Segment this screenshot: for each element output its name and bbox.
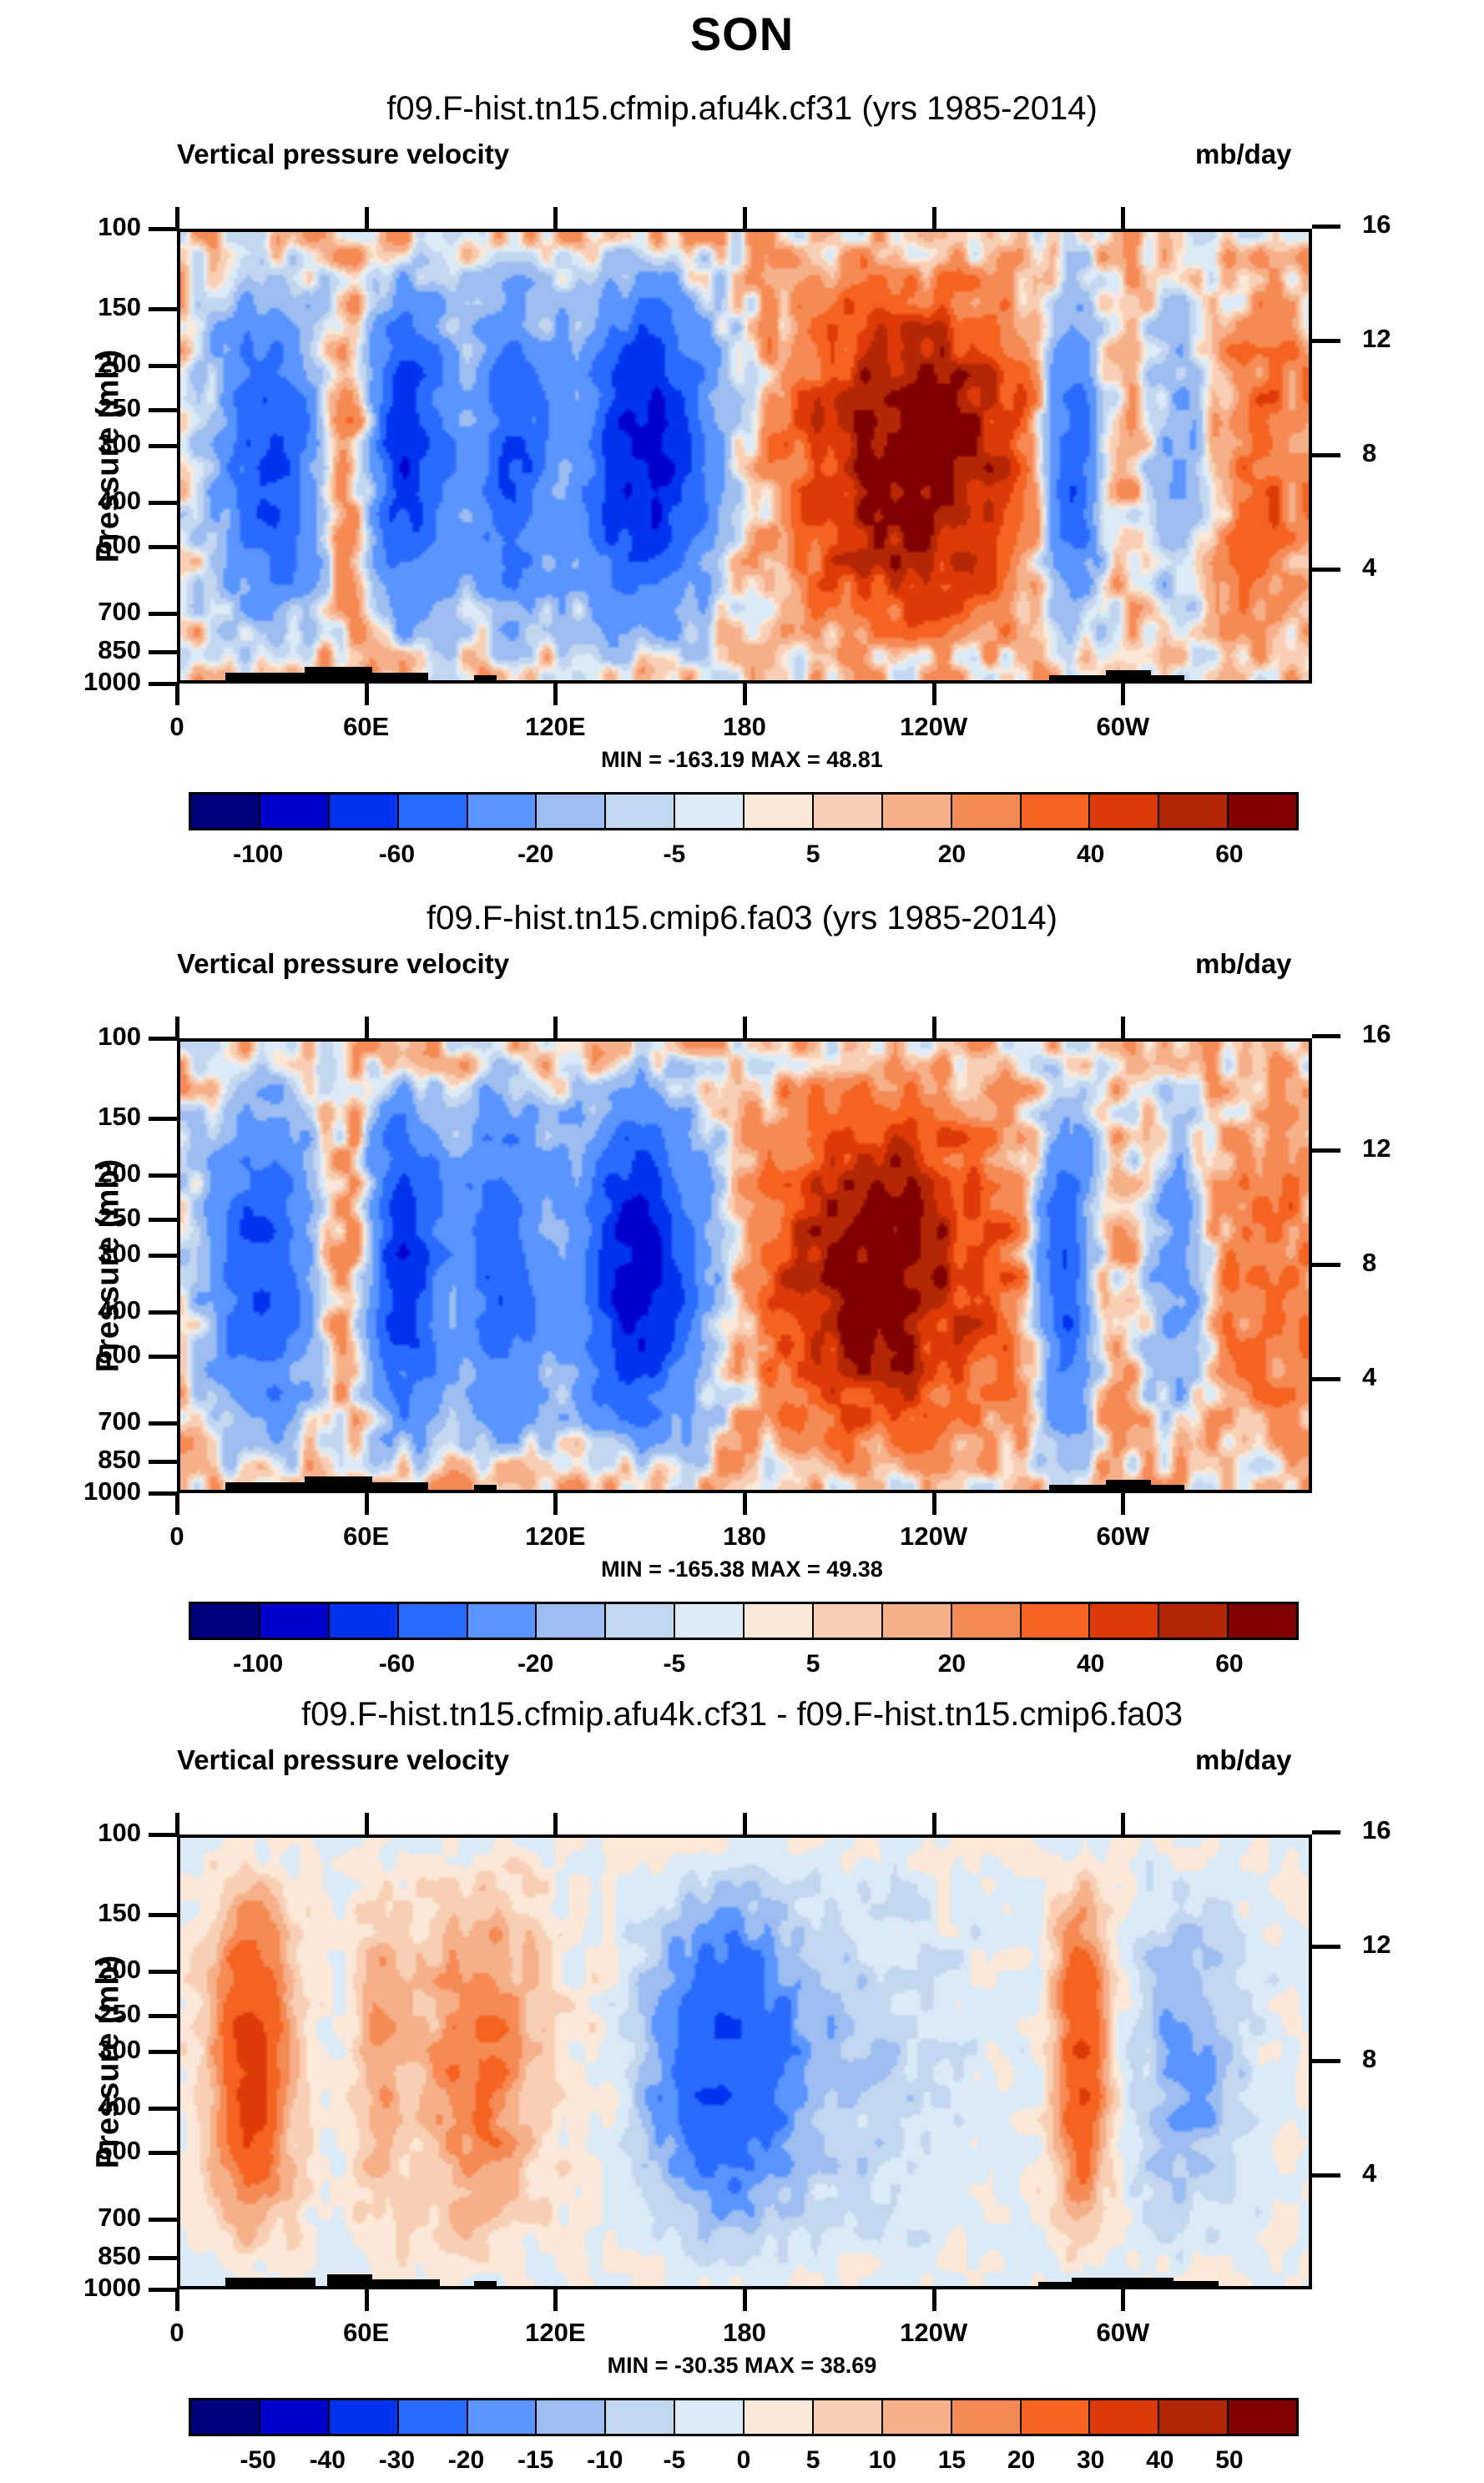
x-tick-mark-bottom bbox=[743, 684, 747, 705]
x-tick-label: 0 bbox=[110, 1522, 244, 1552]
colorbar-swatch bbox=[1229, 1604, 1296, 1638]
x-tick-mark-top bbox=[175, 1813, 179, 1834]
colorbar-tick-label: 60 bbox=[1215, 1650, 1243, 1678]
colorbar-swatch bbox=[260, 795, 330, 828]
x-tick-label: 120W bbox=[867, 712, 1001, 742]
colorbar-swatch bbox=[883, 2400, 952, 2434]
x-tick-mark-bottom bbox=[932, 2289, 936, 2311]
y-tick-label-height: 8 bbox=[1362, 1248, 1376, 1278]
colorbar-tick-label: 5 bbox=[806, 840, 820, 869]
y-tick-mark-right bbox=[1312, 2059, 1340, 2063]
x-tick-label: 0 bbox=[110, 2318, 244, 2348]
colorbar-tick-label: 40 bbox=[1146, 2446, 1174, 2475]
colorbar-tick-label: -100 bbox=[233, 840, 283, 869]
x-tick-label: 60W bbox=[1056, 712, 1189, 742]
y-tick-label-pressure: 300 bbox=[37, 429, 141, 459]
colorbar-swatch bbox=[883, 1604, 952, 1638]
x-tick-mark-bottom bbox=[553, 684, 558, 705]
y-tick-label-height: 12 bbox=[1362, 324, 1391, 354]
y-tick-mark-left bbox=[149, 1970, 177, 1974]
variable-label: Vertical pressure velocity bbox=[177, 139, 509, 170]
colorbar-swatch bbox=[1229, 2400, 1296, 2434]
colorbar-swatch bbox=[675, 1604, 745, 1638]
variable-label: Vertical pressure velocity bbox=[177, 948, 509, 980]
colorbar-tick-label: 10 bbox=[869, 2446, 896, 2475]
y-tick-label-pressure: 1000 bbox=[37, 1476, 141, 1506]
colorbar-swatch bbox=[1229, 795, 1296, 828]
contour-field bbox=[180, 232, 1309, 680]
colorbar-tick-label: -15 bbox=[517, 2446, 553, 2475]
x-tick-label: 60E bbox=[300, 1522, 433, 1552]
colorbar-swatch bbox=[1090, 2400, 1159, 2434]
topography-mask bbox=[1049, 675, 1106, 680]
y-tick-mark-left bbox=[149, 1913, 177, 1917]
x-tick-mark-bottom bbox=[175, 1493, 179, 1515]
y-tick-mark-left bbox=[149, 2050, 177, 2054]
colorbar-swatch bbox=[675, 2400, 745, 2434]
x-tick-label: 120W bbox=[867, 2318, 1001, 2348]
y-tick-label-pressure: 200 bbox=[37, 1955, 141, 1985]
colorbar-tick-label: -10 bbox=[587, 2446, 623, 2475]
colorbar-tick-label: 60 bbox=[1215, 840, 1243, 869]
x-tick-label: 120E bbox=[488, 712, 622, 742]
colorbar-swatch bbox=[1159, 1604, 1229, 1638]
colorbar-swatch bbox=[745, 795, 814, 828]
x-tick-mark-top bbox=[365, 207, 369, 229]
x-tick-mark-bottom bbox=[553, 2289, 558, 2311]
topography-mask bbox=[1106, 1480, 1151, 1490]
topography-mask bbox=[372, 673, 429, 680]
colorbar-swatch bbox=[952, 1604, 1022, 1638]
colorbar-swatch bbox=[606, 795, 675, 828]
colorbar-tick-label: -60 bbox=[379, 840, 415, 869]
y-tick-label-height: 4 bbox=[1362, 2158, 1376, 2188]
y-tick-label-height: 8 bbox=[1362, 438, 1376, 468]
colorbar-swatch bbox=[1159, 2400, 1229, 2434]
topography-mask bbox=[225, 673, 305, 680]
colorbar-swatch bbox=[399, 1604, 468, 1638]
topography-mask bbox=[1174, 2281, 1219, 2286]
x-tick-mark-top bbox=[1121, 1813, 1125, 1834]
y-tick-mark-right bbox=[1312, 568, 1340, 572]
colorbar-tick-label: 20 bbox=[938, 1650, 966, 1678]
topography-mask bbox=[1072, 2278, 1174, 2286]
colorbar-swatch bbox=[468, 795, 538, 828]
x-tick-mark-top bbox=[365, 1813, 369, 1834]
y-tick-label-pressure: 100 bbox=[37, 1022, 141, 1052]
y-tick-label-pressure: 200 bbox=[37, 349, 141, 379]
x-tick-mark-top bbox=[175, 207, 179, 229]
x-tick-label: 60E bbox=[300, 712, 433, 742]
x-tick-label: 120E bbox=[488, 2318, 622, 2348]
y-tick-label-pressure: 700 bbox=[37, 597, 141, 627]
topography-mask bbox=[305, 1476, 372, 1490]
x-tick-label: 0 bbox=[110, 712, 244, 742]
x-tick-mark-bottom bbox=[1121, 2289, 1125, 2311]
y-tick-mark-left bbox=[149, 1254, 177, 1258]
y-tick-mark-right bbox=[1312, 2173, 1340, 2178]
x-tick-mark-top bbox=[553, 207, 558, 229]
topography-mask bbox=[305, 667, 372, 680]
x-tick-mark-bottom bbox=[175, 2289, 179, 2311]
y-tick-label-pressure: 700 bbox=[37, 2203, 141, 2233]
colorbar-swatch bbox=[1022, 795, 1091, 828]
colorbar-swatch bbox=[399, 2400, 468, 2434]
topography-mask bbox=[225, 2278, 315, 2286]
topography-mask bbox=[1106, 670, 1151, 680]
y-tick-label-pressure: 100 bbox=[37, 212, 141, 242]
colorbar-tick-label: -20 bbox=[517, 840, 553, 869]
x-tick-label: 120W bbox=[867, 1522, 1001, 1552]
y-tick-label-height: 16 bbox=[1362, 1815, 1391, 1845]
colorbar-swatch bbox=[883, 795, 952, 828]
y-tick-label-height: 4 bbox=[1362, 553, 1376, 583]
y-tick-label-pressure: 700 bbox=[37, 1406, 141, 1436]
x-tick-mark-bottom bbox=[175, 684, 179, 705]
colorbar-swatch bbox=[952, 795, 1022, 828]
contour-plot-area bbox=[177, 229, 1312, 684]
topography-mask bbox=[474, 2281, 497, 2286]
units-label: mb/day bbox=[1195, 948, 1292, 980]
x-tick-label: 180 bbox=[678, 1522, 811, 1552]
y-tick-mark-right bbox=[1312, 1830, 1340, 1834]
y-tick-label-pressure: 250 bbox=[37, 1203, 141, 1233]
colorbar-tick-label: 40 bbox=[1077, 840, 1104, 869]
y-tick-label-height: 16 bbox=[1362, 209, 1391, 240]
colorbar-swatch bbox=[468, 2400, 538, 2434]
y-tick-mark-left bbox=[149, 227, 177, 231]
colorbar-swatch bbox=[191, 2400, 260, 2434]
colorbar-labels: -50-40-30-20-15-10-505101520304050 bbox=[189, 2446, 1299, 2483]
colorbar-labels: -100-60-20-55204060 bbox=[189, 1650, 1299, 1687]
x-tick-mark-bottom bbox=[365, 1493, 369, 1515]
y-tick-label-pressure: 1000 bbox=[37, 667, 141, 697]
y-tick-mark-right bbox=[1312, 339, 1340, 343]
x-tick-mark-top bbox=[365, 1017, 369, 1038]
y-tick-mark-right bbox=[1312, 1148, 1340, 1153]
x-tick-mark-top bbox=[553, 1017, 558, 1038]
colorbar-swatch bbox=[1159, 795, 1229, 828]
y-tick-mark-right bbox=[1312, 225, 1340, 229]
y-tick-mark-left bbox=[149, 1218, 177, 1222]
y-tick-label-pressure: 150 bbox=[37, 1898, 141, 1928]
x-tick-mark-bottom bbox=[1121, 1493, 1125, 1515]
y-tick-mark-right bbox=[1312, 1377, 1340, 1381]
x-tick-label: 180 bbox=[678, 2318, 811, 2348]
colorbar-swatch bbox=[330, 795, 399, 828]
x-tick-mark-top bbox=[1121, 1017, 1125, 1038]
colorbar-tick-label: -30 bbox=[379, 2446, 415, 2475]
panel-title: f09.F-hist.tn15.cfmip.afu4k.cf31 (yrs 19… bbox=[0, 90, 1484, 128]
y-tick-mark-left bbox=[149, 408, 177, 412]
y-tick-mark-left bbox=[149, 650, 177, 654]
colorbar-tick-label: -50 bbox=[240, 2446, 275, 2475]
panel-title: f09.F-hist.tn15.cmip6.fa03 (yrs 1985-201… bbox=[0, 900, 1484, 937]
x-tick-mark-bottom bbox=[365, 2289, 369, 2311]
topography-mask bbox=[327, 2274, 372, 2286]
colorbar-tick-label: -60 bbox=[379, 1650, 415, 1678]
x-tick-mark-top bbox=[743, 1813, 747, 1834]
x-tick-label: 60W bbox=[1056, 1522, 1189, 1552]
colorbar-swatch bbox=[814, 795, 883, 828]
contour-plot-area bbox=[177, 1834, 1312, 2289]
colorbar-swatch bbox=[606, 2400, 675, 2434]
contour-field bbox=[180, 1838, 1309, 2286]
x-tick-mark-top bbox=[932, 1017, 936, 1038]
colorbar-tick-label: 5 bbox=[806, 2446, 820, 2475]
x-tick-mark-top bbox=[553, 1813, 558, 1834]
colorbar-swatch bbox=[330, 1604, 399, 1638]
y-tick-mark-right bbox=[1312, 453, 1340, 457]
colorbar-swatch bbox=[330, 2400, 399, 2434]
colorbar-tick-label: 0 bbox=[737, 2446, 751, 2475]
colorbar-swatch bbox=[537, 1604, 606, 1638]
y-tick-label-pressure: 1000 bbox=[37, 2273, 141, 2303]
y-tick-mark-left bbox=[149, 2014, 177, 2018]
x-tick-mark-bottom bbox=[932, 1493, 936, 1515]
x-tick-mark-bottom bbox=[553, 1493, 558, 1515]
y-tick-mark-left bbox=[149, 612, 177, 616]
x-tick-mark-bottom bbox=[932, 684, 936, 705]
y-tick-label-pressure: 850 bbox=[37, 635, 141, 665]
units-label: mb/day bbox=[1195, 139, 1292, 170]
topography-mask bbox=[474, 675, 497, 680]
y-tick-mark-left bbox=[149, 545, 177, 549]
y-tick-label-pressure: 300 bbox=[37, 1239, 141, 1269]
colorbar-tick-label: -5 bbox=[664, 1650, 686, 1678]
colorbar-swatch bbox=[191, 1604, 260, 1638]
y-tick-mark-left bbox=[149, 307, 177, 311]
colorbar-swatch bbox=[1090, 1604, 1159, 1638]
y-tick-label-pressure: 400 bbox=[37, 2092, 141, 2122]
colorbar-swatch bbox=[399, 795, 468, 828]
colorbar-tick-label: 50 bbox=[1215, 2446, 1243, 2475]
colorbar-swatch bbox=[1022, 1604, 1091, 1638]
colorbar-swatch bbox=[814, 2400, 883, 2434]
colorbar-swatch bbox=[468, 1604, 538, 1638]
colorbar bbox=[189, 1602, 1299, 1640]
contour-plot-area bbox=[177, 1038, 1312, 1493]
topography-mask bbox=[1049, 1485, 1106, 1490]
y-tick-label-pressure: 500 bbox=[37, 2136, 141, 2166]
units-label: mb/day bbox=[1195, 1744, 1292, 1776]
topography-mask bbox=[372, 2279, 440, 2286]
y-tick-mark-left bbox=[149, 682, 177, 686]
y-tick-label-height: 12 bbox=[1362, 1133, 1391, 1163]
colorbar-tick-label: -100 bbox=[233, 1650, 283, 1678]
colorbar-swatch bbox=[952, 2400, 1022, 2434]
colorbar-tick-label: 20 bbox=[1007, 2446, 1035, 2475]
y-tick-mark-left bbox=[149, 1355, 177, 1359]
topography-mask bbox=[474, 1485, 497, 1490]
x-tick-mark-top bbox=[1121, 207, 1125, 229]
x-tick-mark-top bbox=[932, 207, 936, 229]
min-max-annotation: MIN = -163.19 MAX = 48.81 bbox=[0, 747, 1484, 773]
colorbar-swatch bbox=[814, 1604, 883, 1638]
y-tick-mark-left bbox=[149, 501, 177, 505]
x-tick-mark-bottom bbox=[365, 684, 369, 705]
y-tick-mark-left bbox=[149, 444, 177, 448]
colorbar-tick-label: -20 bbox=[448, 2446, 484, 2475]
x-tick-mark-bottom bbox=[743, 1493, 747, 1515]
y-tick-label-height: 16 bbox=[1362, 1019, 1391, 1049]
y-tick-mark-left bbox=[149, 1117, 177, 1121]
y-tick-label-pressure: 200 bbox=[37, 1158, 141, 1189]
y-tick-label-pressure: 500 bbox=[37, 530, 141, 560]
y-tick-mark-right bbox=[1312, 1945, 1340, 1949]
colorbar-tick-label: 15 bbox=[938, 2446, 966, 2475]
colorbar-tick-label: -20 bbox=[517, 1650, 553, 1678]
y-tick-mark-left bbox=[149, 364, 177, 368]
topography-mask bbox=[1151, 1485, 1185, 1490]
y-tick-mark-left bbox=[149, 2218, 177, 2222]
y-tick-label-pressure: 150 bbox=[37, 1102, 141, 1132]
y-tick-mark-left bbox=[149, 1310, 177, 1315]
colorbar-swatch bbox=[1022, 2400, 1091, 2434]
x-tick-label: 180 bbox=[678, 712, 811, 742]
y-tick-label-pressure: 400 bbox=[37, 486, 141, 516]
x-tick-mark-top bbox=[932, 1813, 936, 1834]
y-tick-mark-left bbox=[149, 2151, 177, 2155]
topography-mask bbox=[225, 1482, 305, 1490]
x-tick-mark-top bbox=[743, 1017, 747, 1038]
colorbar-swatch bbox=[191, 795, 260, 828]
y-tick-mark-left bbox=[149, 2256, 177, 2260]
y-tick-mark-left bbox=[149, 1491, 177, 1496]
y-tick-label-pressure: 850 bbox=[37, 1445, 141, 1475]
colorbar-labels: -100-60-20-55204060 bbox=[189, 840, 1299, 877]
x-tick-label: 60E bbox=[300, 2318, 433, 2348]
y-tick-label-pressure: 250 bbox=[37, 393, 141, 423]
y-tick-label-height: 4 bbox=[1362, 1362, 1376, 1392]
y-tick-label-pressure: 400 bbox=[37, 1295, 141, 1325]
y-tick-label-pressure: 150 bbox=[37, 292, 141, 322]
colorbar-tick-label: 30 bbox=[1077, 2446, 1104, 2475]
colorbar-swatch bbox=[260, 2400, 330, 2434]
colorbar-swatch bbox=[260, 1604, 330, 1638]
min-max-annotation: MIN = -165.38 MAX = 49.38 bbox=[0, 1557, 1484, 1582]
y-tick-label-pressure: 100 bbox=[37, 1818, 141, 1848]
x-tick-mark-top bbox=[175, 1017, 179, 1038]
colorbar bbox=[189, 2398, 1299, 2436]
colorbar-tick-label: 5 bbox=[806, 1650, 820, 1678]
colorbar-swatch bbox=[675, 795, 745, 828]
colorbar-tick-label: -5 bbox=[664, 2446, 686, 2475]
y-tick-label-height: 12 bbox=[1362, 1930, 1391, 1960]
colorbar-tick-label: 20 bbox=[938, 840, 966, 869]
colorbar-tick-label: -40 bbox=[310, 2446, 346, 2475]
y-tick-label-pressure: 850 bbox=[37, 2241, 141, 2271]
y-tick-mark-left bbox=[149, 1460, 177, 1464]
x-tick-mark-top bbox=[743, 207, 747, 229]
colorbar-swatch bbox=[745, 1604, 814, 1638]
y-tick-mark-left bbox=[149, 2107, 177, 2111]
variable-label: Vertical pressure velocity bbox=[177, 1744, 509, 1776]
topography-mask bbox=[1151, 675, 1185, 680]
y-tick-mark-right bbox=[1312, 1034, 1340, 1038]
panel-title: f09.F-hist.tn15.cfmip.afu4k.cf31 - f09.F… bbox=[0, 1696, 1484, 1734]
x-tick-mark-bottom bbox=[1121, 684, 1125, 705]
colorbar bbox=[189, 792, 1299, 830]
topography-mask bbox=[372, 1482, 429, 1490]
y-tick-mark-left bbox=[149, 1833, 177, 1837]
y-tick-mark-left bbox=[149, 1173, 177, 1178]
y-tick-mark-left bbox=[149, 1037, 177, 1041]
y-tick-label-height: 8 bbox=[1362, 2044, 1376, 2074]
colorbar-swatch bbox=[537, 2400, 606, 2434]
y-tick-label-pressure: 250 bbox=[37, 1999, 141, 2029]
y-tick-mark-left bbox=[149, 2288, 177, 2292]
colorbar-swatch bbox=[537, 795, 606, 828]
page-title: SON bbox=[0, 7, 1484, 61]
y-tick-label-pressure: 500 bbox=[37, 1340, 141, 1370]
min-max-annotation: MIN = -30.35 MAX = 38.69 bbox=[0, 2353, 1484, 2379]
x-tick-mark-bottom bbox=[743, 2289, 747, 2311]
y-tick-mark-left bbox=[149, 1421, 177, 1426]
y-tick-mark-right bbox=[1312, 1263, 1340, 1267]
contour-field bbox=[180, 1042, 1309, 1490]
colorbar-swatch bbox=[745, 2400, 814, 2434]
colorbar-tick-label: -5 bbox=[664, 840, 686, 869]
y-tick-label-pressure: 300 bbox=[37, 2035, 141, 2065]
x-tick-label: 120E bbox=[488, 1522, 622, 1552]
colorbar-tick-label: 40 bbox=[1077, 1650, 1104, 1678]
x-tick-label: 60W bbox=[1056, 2318, 1189, 2348]
colorbar-swatch bbox=[1090, 795, 1159, 828]
colorbar-swatch bbox=[606, 1604, 675, 1638]
